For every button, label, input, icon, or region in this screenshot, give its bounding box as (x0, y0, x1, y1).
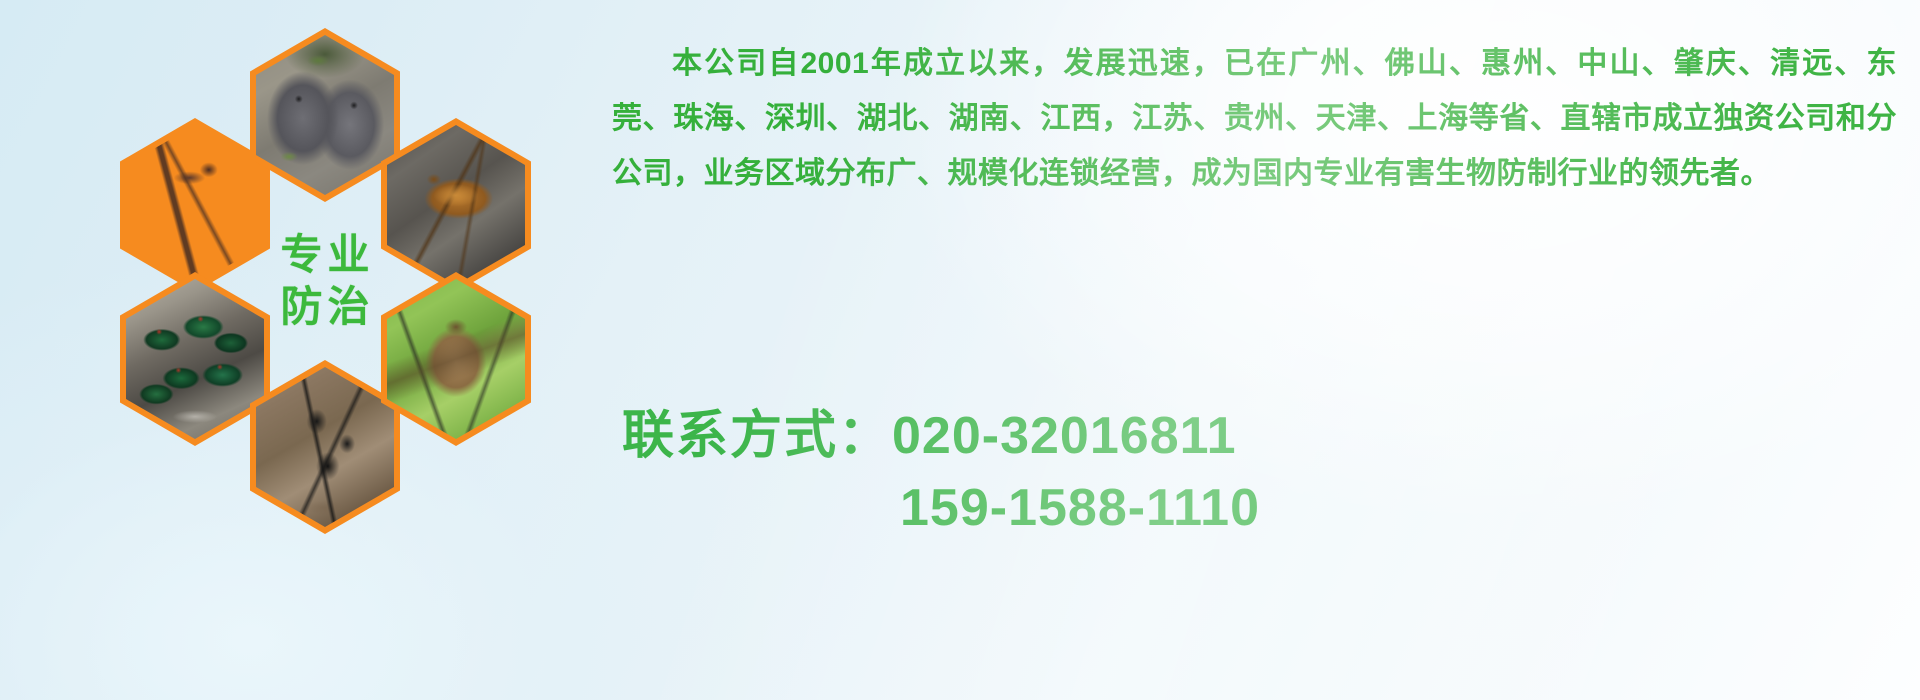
honeycomb-center-label: 专业 防治 (250, 194, 400, 368)
cockroach-photo (387, 125, 525, 285)
contact-label: 联系方式： (622, 407, 892, 465)
logo-line-1: 专业 (275, 233, 374, 277)
ant-photo (256, 367, 394, 527)
phone-secondary[interactable]: 159-1588-1110 (900, 479, 1260, 537)
hex-cell-mosquito[interactable] (120, 118, 270, 292)
hex-cell-cockroach[interactable] (381, 118, 531, 292)
contact-secondary-line: 159-1588-1110 (622, 472, 1822, 544)
intro-copy-block: 本公司自2001年成立以来，发展迅速，已在广州、佛山、惠州、中山、肇庆、清远、东… (612, 36, 1902, 201)
contact-primary-line: 联系方式：020-32016811 (622, 400, 1822, 472)
hex-cell-ant[interactable] (250, 360, 400, 534)
phone-primary[interactable]: 020-32016811 (892, 407, 1237, 465)
hex-cell-rat[interactable] (250, 28, 400, 202)
fly-photo (126, 279, 264, 439)
rat-photo (256, 35, 394, 195)
mosquito-photo (126, 125, 264, 285)
logo-line-2: 防治 (275, 285, 374, 329)
stink-bug-photo (387, 279, 525, 439)
honeycomb-image-cluster: 专业 防治 (90, 10, 580, 570)
company-intro-paragraph: 本公司自2001年成立以来，发展迅速，已在广州、佛山、惠州、中山、肇庆、清远、东… (612, 36, 1897, 201)
hex-cell-fly[interactable] (120, 272, 270, 446)
promo-banner: 专业 防治 本公司自2001年成立以来，发展迅速，已在广州、佛山、惠州、中山、肇… (0, 0, 1920, 700)
contact-block: 联系方式：020-32016811 159-1588-1110 (622, 400, 1822, 544)
hex-cell-stink-bug[interactable] (381, 272, 531, 446)
